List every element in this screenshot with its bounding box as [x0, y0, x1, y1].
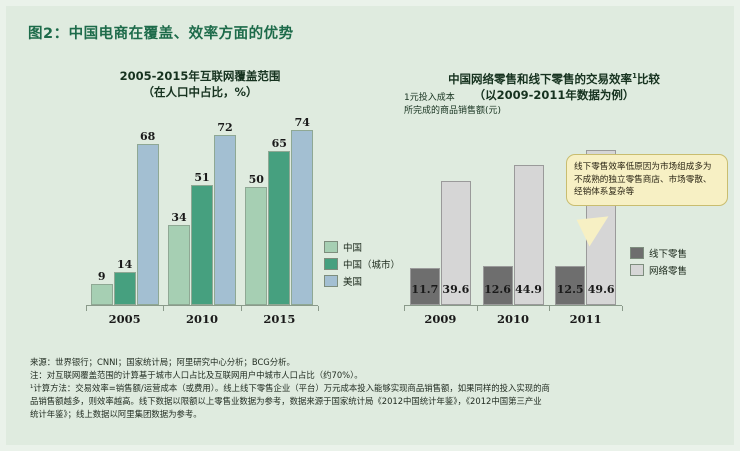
x-tick-label-2015: 2015 [241, 312, 318, 326]
x-tick-label-2011: 2011 [549, 312, 622, 326]
legend-swatch-icon [324, 258, 338, 270]
right-x-axis [404, 305, 622, 306]
bar-中国-2010: 34 [168, 225, 190, 305]
legend-label: 中国 [343, 240, 362, 254]
bar-中国（城市）-2015: 65 [268, 151, 290, 305]
right-chart-title-line1-tail: 比较 [637, 72, 660, 86]
bar-value-label: 12.5 [557, 283, 584, 296]
bar-value-label: 65 [272, 137, 287, 150]
bar-value-label: 72 [217, 121, 232, 134]
bar-线下零售-2009: 11.7 [410, 268, 440, 305]
bar-美国-2010: 72 [214, 135, 236, 305]
bar-value-label: 14 [117, 258, 132, 271]
bar-中国-2015: 50 [245, 187, 267, 305]
bar-group: 506574 [241, 116, 318, 305]
bar-group: 91468 [86, 116, 163, 305]
bar-网络零售-2009: 39.6 [441, 181, 471, 305]
left-x-axis [86, 305, 318, 306]
left-chart-panel: 2005-2015年互联网覆盖范围 （在人口中占比，%） 91468345172… [24, 68, 376, 348]
bar-value-label: 39.6 [442, 283, 469, 296]
figure-container: 图2：中国电商在覆盖、效率方面的优势 2005-2015年互联网覆盖范围 （在人… [0, 0, 740, 451]
x-tick-label-2005: 2005 [86, 312, 163, 326]
right-y-axis-label-line1: 1元投入成本 [404, 92, 501, 105]
x-tick-label-2009: 2009 [404, 312, 477, 326]
right-legend: 线下零售网络零售 [630, 246, 687, 277]
callout-box: 线下零售效率低原因为市场组成多为不成熟的独立零售商店、市场零散、经销体系复杂等 [566, 154, 728, 206]
right-chart-panel: 中国网络零售和线下零售的交易效率1比较 （以2009-2011年数据为例） 1元… [378, 68, 730, 348]
bar-中国-2005: 9 [91, 284, 113, 305]
legend-swatch-icon [324, 275, 338, 287]
bar-中国（城市）-2005: 14 [114, 272, 136, 305]
bar-美国-2015: 74 [291, 130, 313, 305]
axis-tick [163, 306, 164, 311]
left-plot-area: 91468345172506574 200520102015 [86, 116, 318, 306]
legend-item-线下零售: 线下零售 [630, 246, 687, 260]
bar-group: 345172 [163, 116, 240, 305]
legend-label: 线下零售 [649, 246, 687, 260]
axis-tick [404, 306, 405, 311]
legend-swatch-icon [630, 247, 644, 259]
note-line: 注：对互联网覆盖范围的计算基于城市人口占比及互联网用户中城市人口占比（约70%）… [30, 369, 718, 382]
axis-tick [86, 306, 87, 311]
x-tick-label-2010: 2010 [477, 312, 550, 326]
left-chart-title: 2005-2015年互联网覆盖范围 （在人口中占比，%） [24, 68, 376, 100]
bar-value-label: 9 [98, 270, 106, 283]
axis-tick [477, 306, 478, 311]
bar-value-label: 12.6 [484, 283, 511, 296]
bar-value-label: 50 [249, 173, 264, 186]
axis-tick [241, 306, 242, 311]
bar-value-label: 74 [295, 116, 310, 129]
bar-value-label: 11.7 [411, 283, 438, 296]
footnote1-line1: ¹计算方法：交易效率=销售额/运营成本（或费用）。线上线下零售企业（平台）万元成… [30, 382, 718, 395]
legend-label: 美国 [343, 274, 362, 288]
bar-value-label: 44.9 [515, 283, 542, 296]
axis-tick [318, 306, 319, 311]
axis-tick [622, 306, 623, 311]
right-chart-title-line1: 中国网络零售和线下零售的交易效率 [448, 72, 632, 86]
bar-线下零售-2010: 12.6 [483, 266, 513, 305]
left-chart-title-line1: 2005-2015年互联网覆盖范围 [120, 69, 281, 83]
legend-label: 网络零售 [649, 263, 687, 277]
left-bar-groups: 91468345172506574 [86, 116, 318, 305]
bar-中国（城市）-2010: 51 [191, 185, 213, 305]
right-y-axis-label-line2: 所完成的商品销售额(元) [404, 105, 501, 118]
bar-group: 12.644.9 [477, 130, 550, 305]
callout-tail [577, 216, 612, 247]
bar-value-label: 49.6 [588, 283, 615, 296]
right-x-tick-labels: 200920102011 [404, 312, 622, 326]
legend-item-网络零售: 网络零售 [630, 263, 687, 277]
bar-group: 11.739.6 [404, 130, 477, 305]
footnotes: 来源：世界银行；CNNI；国家统计局；阿里研究中心分析；BCG分析。 注：对互联… [30, 356, 718, 421]
left-chart-title-line2: （在人口中占比，%） [28, 84, 372, 100]
bar-value-label: 51 [194, 171, 209, 184]
bar-value-label: 68 [140, 130, 155, 143]
footnote1-line3: 统计年鉴》；线上数据以阿里集团数据为参考。 [30, 408, 718, 421]
bar-美国-2005: 68 [137, 144, 159, 305]
axis-tick [549, 306, 550, 311]
bar-网络零售-2010: 44.9 [514, 165, 544, 305]
source-line: 来源：世界银行；CNNI；国家统计局；阿里研究中心分析；BCG分析。 [30, 356, 718, 369]
bar-线下零售-2011: 12.5 [555, 266, 585, 305]
right-y-axis-label: 1元投入成本 所完成的商品销售额(元) [404, 92, 501, 118]
x-tick-label-2010: 2010 [163, 312, 240, 326]
legend-swatch-icon [630, 264, 644, 276]
left-x-tick-labels: 200520102015 [86, 312, 318, 326]
bar-value-label: 34 [171, 211, 186, 224]
legend-swatch-icon [324, 241, 338, 253]
page-title: 图2：中国电商在覆盖、效率方面的优势 [28, 22, 294, 43]
footnote1-line2: 品销售额越多，则效率越高。线下数据以限额以上零售业数据为参考，数据来源于国家统计… [30, 395, 718, 408]
